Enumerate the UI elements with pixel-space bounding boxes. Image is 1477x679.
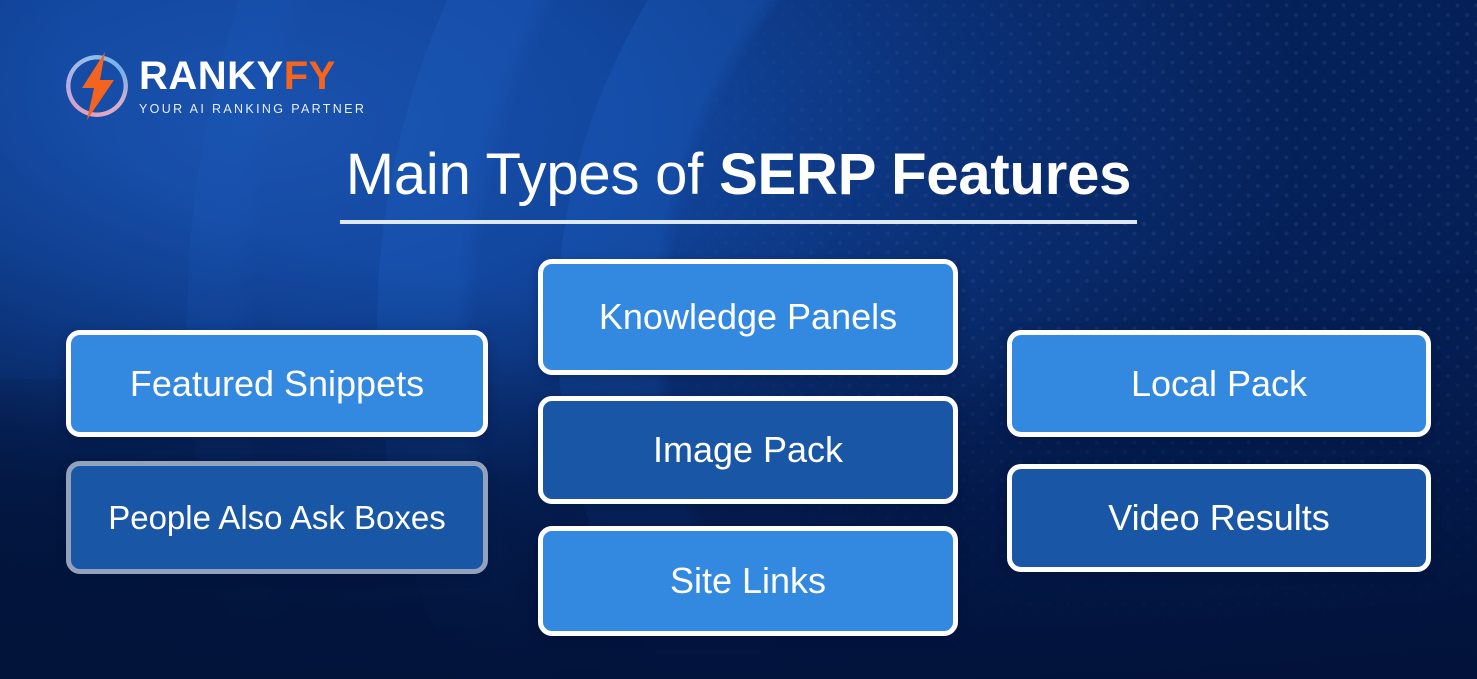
brand-logo[interactable]: RANKYFY YOUR AI RANKING PARTNER bbox=[66, 55, 366, 117]
logo-word-row: RANKYFY bbox=[139, 56, 366, 96]
feature-box-site-links[interactable]: Site Links bbox=[538, 526, 958, 636]
feature-box-image-pack[interactable]: Image Pack bbox=[538, 396, 958, 504]
title-part-bold: SERP Features bbox=[719, 142, 1131, 207]
logo-name-accent: FY bbox=[284, 56, 336, 96]
lightning-bolt-glyph bbox=[74, 52, 120, 120]
infographic-canvas: RANKYFY YOUR AI RANKING PARTNER Main Typ… bbox=[0, 0, 1477, 679]
logo-name-primary: RANKY bbox=[139, 56, 284, 96]
page-title: Main Types of SERP Features bbox=[340, 145, 1138, 224]
page-title-wrapper: Main Types of SERP Features bbox=[0, 145, 1477, 224]
feature-box-people-also-ask[interactable]: People Also Ask Boxes bbox=[66, 461, 488, 574]
feature-box-featured-snippets[interactable]: Featured Snippets bbox=[66, 330, 488, 437]
logo-tagline: YOUR AI RANKING PARTNER bbox=[139, 103, 366, 116]
feature-box-knowledge-panels[interactable]: Knowledge Panels bbox=[538, 259, 958, 375]
title-part-of: of bbox=[655, 142, 719, 207]
lightning-bolt-circle-icon bbox=[66, 55, 128, 117]
feature-box-video-results[interactable]: Video Results bbox=[1007, 464, 1431, 572]
title-part-light: Main Types bbox=[346, 142, 655, 207]
logo-wordmark: RANKYFY YOUR AI RANKING PARTNER bbox=[139, 56, 366, 116]
feature-box-local-pack[interactable]: Local Pack bbox=[1007, 330, 1431, 437]
